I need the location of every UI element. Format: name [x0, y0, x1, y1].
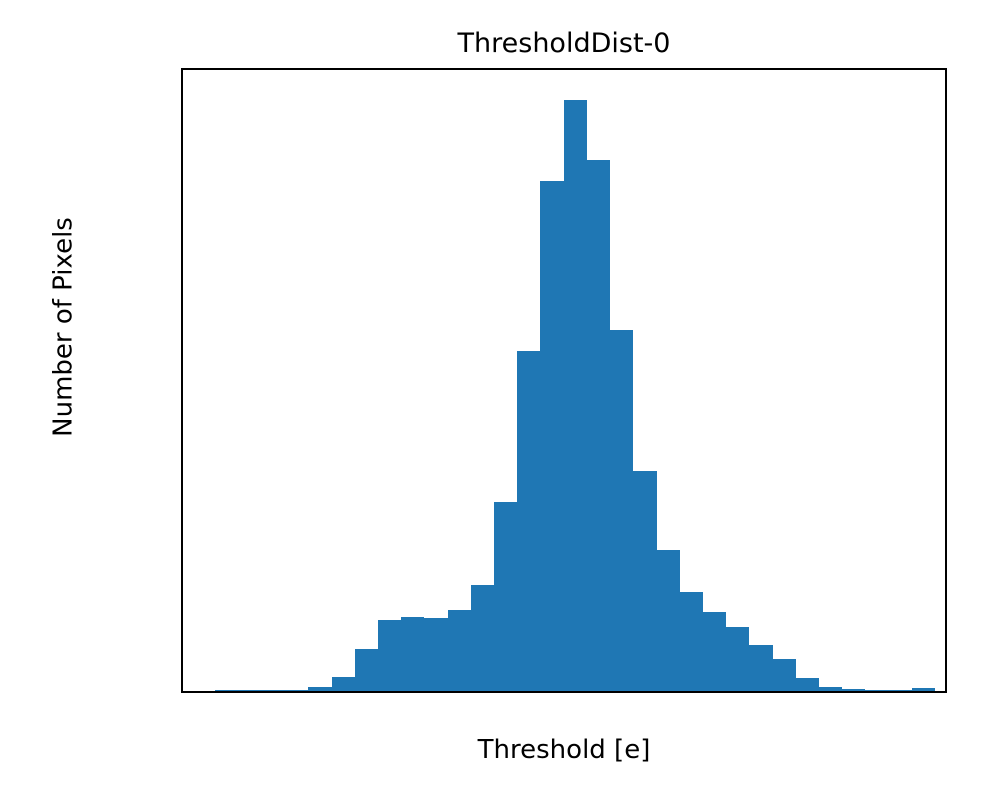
y-tick: 25000: [181, 79, 183, 109]
histogram-bar: [378, 620, 401, 691]
x-tick: 1550: [670, 691, 736, 693]
y-axis-label: Number of Pixels: [49, 15, 79, 640]
x-tick-mark: [586, 691, 588, 693]
y-tick-mark: [181, 213, 183, 215]
y-tick: 5000: [181, 560, 183, 590]
y-tick: 0: [181, 680, 183, 693]
x-tick: 1350: [206, 691, 272, 693]
histogram-bar: [332, 677, 355, 691]
x-tick-mark: [354, 691, 356, 693]
histogram-bar: [540, 181, 563, 691]
histogram-bar: [749, 645, 772, 691]
histogram-bar: [796, 678, 819, 691]
histogram-bar: [773, 659, 796, 691]
x-tick: 1600: [786, 691, 852, 693]
y-tick: 10000: [181, 440, 183, 470]
histogram-bar: [471, 585, 494, 691]
histogram-bar: [517, 351, 540, 691]
histogram-bar: [401, 617, 424, 691]
chart-figure: ThresholdDist-0 050001000015000200002500…: [0, 0, 1000, 800]
histogram-bar: [424, 618, 447, 691]
x-tick-mark: [818, 691, 820, 693]
histogram-bar: [564, 100, 587, 691]
x-tick: 1650: [902, 691, 947, 693]
histogram-bar: [726, 627, 749, 691]
histogram-bars: [183, 70, 945, 691]
histogram-bar: [587, 160, 610, 691]
y-tick-mark: [181, 333, 183, 335]
histogram-bar: [285, 690, 308, 692]
x-tick-mark: [934, 691, 936, 693]
histogram-bar: [494, 502, 517, 691]
x-tick-mark: [470, 691, 472, 693]
x-tick: 1400: [322, 691, 388, 693]
y-tick: 20000: [181, 199, 183, 229]
y-tick-mark: [181, 93, 183, 95]
y-tick-mark: [181, 574, 183, 576]
histogram-bar: [703, 612, 726, 691]
y-tick: 15000: [181, 319, 183, 349]
histogram-bar: [657, 550, 680, 691]
histogram-bar: [680, 592, 703, 691]
histogram-bar: [633, 471, 656, 691]
x-tick-mark: [702, 691, 704, 693]
chart-title: ThresholdDist-0: [181, 28, 947, 60]
x-tick: 1450: [438, 691, 504, 693]
x-tick: 1500: [554, 691, 620, 693]
histogram-bar: [865, 690, 888, 692]
y-tick-mark: [181, 454, 183, 456]
histogram-bar: [355, 649, 378, 691]
histogram-bar: [610, 330, 633, 691]
plot-area: 0500010000150002000025000 13501400145015…: [181, 68, 947, 693]
x-tick-mark: [238, 691, 240, 693]
x-axis-label: Threshold [e]: [181, 735, 947, 765]
histogram-bar: [448, 610, 471, 691]
